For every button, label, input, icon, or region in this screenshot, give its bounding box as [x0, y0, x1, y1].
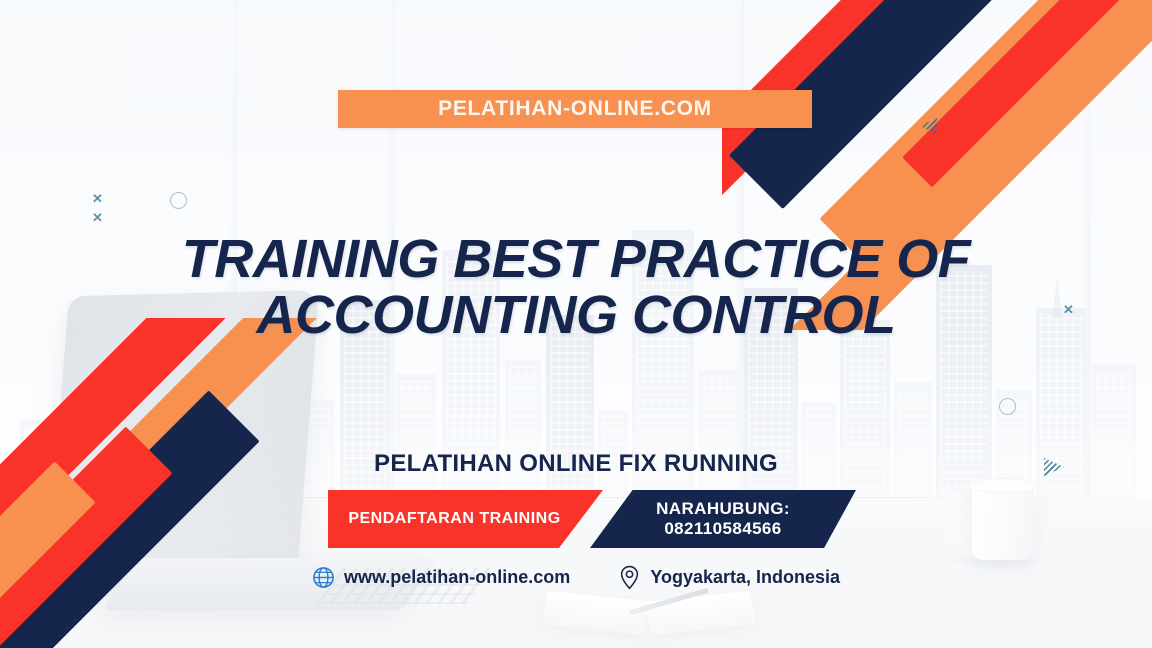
- contact-block[interactable]: NARAHUBUNG: 082110584566: [590, 490, 856, 548]
- footer-location-item[interactable]: Yogyakarta, Indonesia: [618, 565, 840, 590]
- page-subtitle: PELATIHAN ONLINE FIX RUNNING: [0, 450, 1152, 478]
- website-banner: PELATIHAN-ONLINE.COM: [338, 90, 812, 128]
- promotional-banner: ✕ ✕ ✕ PELATIHAN-ONLINE.COM TRAINING BEST…: [0, 0, 1152, 648]
- page-title-line-2: ACCOUNTING CONTROL: [0, 288, 1152, 344]
- contact-label: NARAHUBUNG:: [656, 499, 790, 519]
- footer-location-label: Yogyakarta, Indonesia: [650, 567, 840, 588]
- page-title-line-1: TRAINING BEST PRACTICE OF: [182, 229, 971, 289]
- cta-banner: PENDAFTARAN TRAINING NARAHUBUNG: 0821105…: [328, 490, 856, 548]
- footer-website-item[interactable]: www.pelatihan-online.com: [312, 566, 570, 589]
- registration-button-label: PENDAFTARAN TRAINING: [348, 510, 582, 528]
- footer-website-label: www.pelatihan-online.com: [344, 567, 570, 588]
- contact-phone: 082110584566: [664, 519, 781, 539]
- map-pin-icon: [618, 565, 641, 590]
- poster-content: PELATIHAN-ONLINE.COM TRAINING BEST PRACT…: [0, 0, 1152, 648]
- footer-info: www.pelatihan-online.com Yogyakarta, Ind…: [0, 565, 1152, 590]
- registration-button[interactable]: PENDAFTARAN TRAINING: [328, 490, 603, 548]
- website-banner-text: PELATIHAN-ONLINE.COM: [438, 97, 712, 121]
- page-title: TRAINING BEST PRACTICE OF ACCOUNTING CON…: [0, 232, 1152, 343]
- globe-icon: [312, 566, 335, 589]
